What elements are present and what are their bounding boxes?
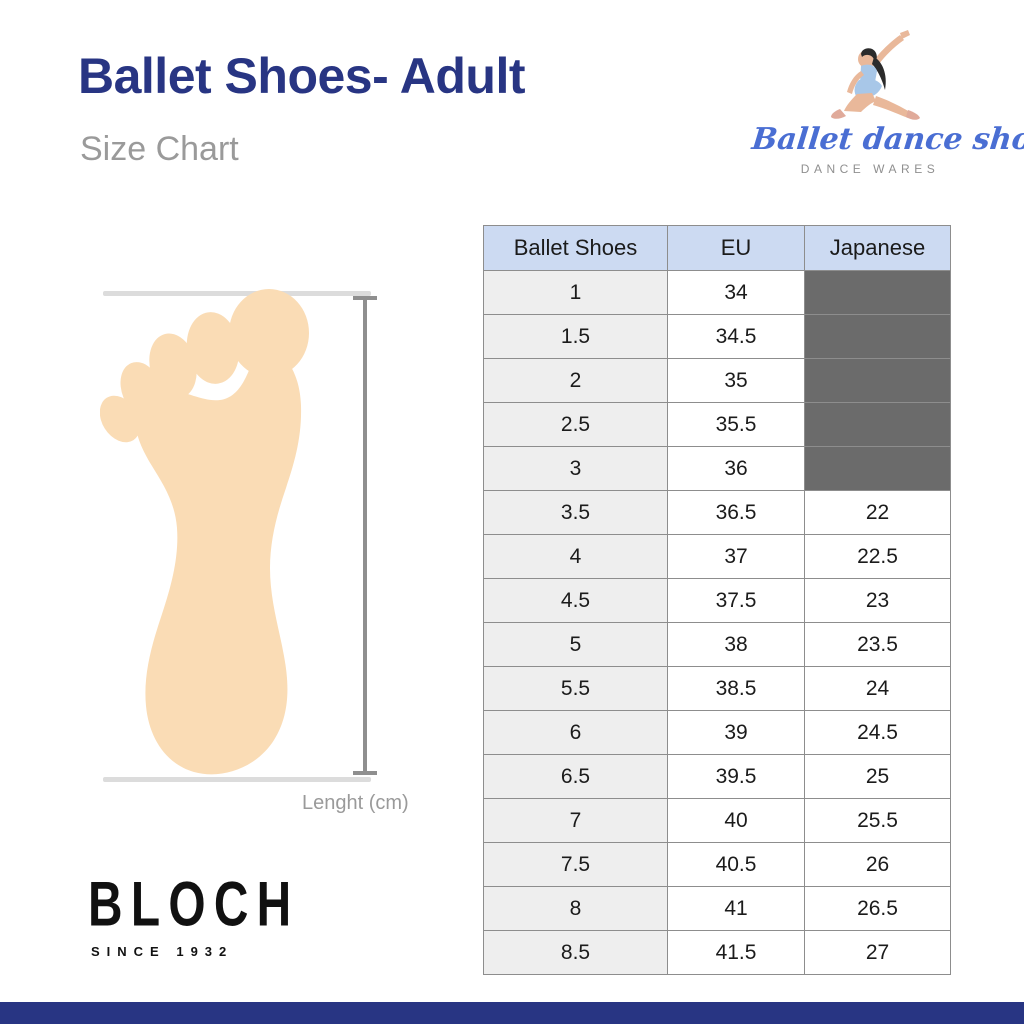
cell-eu: 36 [668,447,805,491]
cell-ballet-shoes: 3 [484,447,668,491]
cell-eu: 40 [668,799,805,843]
cell-ballet-shoes: 1 [484,271,668,315]
cell-japanese: 25.5 [805,799,951,843]
cell-japanese: 26.5 [805,887,951,931]
table-row: 134 [484,271,951,315]
cell-eu: 35 [668,359,805,403]
table-row: 8.541.527 [484,931,951,975]
size-chart-table-container: Ballet Shoes EU Japanese 1341.534.52352.… [483,225,951,975]
cell-eu: 36.5 [668,491,805,535]
cell-eu: 41.5 [668,931,805,975]
table-row: 63924.5 [484,711,951,755]
table-row: 6.539.525 [484,755,951,799]
table-body: 1341.534.52352.535.53363.536.52243722.54… [484,271,951,975]
foot-measurement-diagram: Lenght (cm) [80,270,440,830]
foot-sole-icon [100,288,350,788]
cell-japanese: 27 [805,931,951,975]
cell-eu: 34.5 [668,315,805,359]
measure-shaft [363,297,367,773]
size-chart-table: Ballet Shoes EU Japanese 1341.534.52352.… [483,225,951,975]
cell-ballet-shoes: 4 [484,535,668,579]
column-header-eu: EU [668,226,805,271]
page-title: Ballet Shoes- Adult [78,47,525,105]
table-row: 336 [484,447,951,491]
logo-script-text: Ballet dance shop [750,122,990,157]
cell-eu: 35.5 [668,403,805,447]
cell-ballet-shoes: 5 [484,623,668,667]
table-header: Ballet Shoes EU Japanese [484,226,951,271]
page-subtitle: Size Chart [80,130,239,169]
cell-ballet-shoes: 8 [484,887,668,931]
table-row: 1.534.5 [484,315,951,359]
cell-eu: 40.5 [668,843,805,887]
cell-ballet-shoes: 6 [484,711,668,755]
table-row: 5.538.524 [484,667,951,711]
cell-japanese-unavailable [805,271,951,315]
cell-eu: 41 [668,887,805,931]
cell-ballet-shoes: 7 [484,799,668,843]
bloch-brand-logo: BLOCH SINCE 1932 [88,868,308,958]
cell-japanese-unavailable [805,315,951,359]
cell-eu: 37.5 [668,579,805,623]
cell-japanese: 24.5 [805,711,951,755]
cell-ballet-shoes: 8.5 [484,931,668,975]
table-row: 43722.5 [484,535,951,579]
table-row: 3.536.522 [484,491,951,535]
table-row: 235 [484,359,951,403]
length-label: Lenght (cm) [302,792,409,815]
bloch-since-text: SINCE 1932 [91,944,233,959]
cell-japanese-unavailable [805,403,951,447]
cell-ballet-shoes: 5.5 [484,667,668,711]
ballet-dancer-icon [816,30,936,124]
cell-eu: 37 [668,535,805,579]
table-row: 84126.5 [484,887,951,931]
cell-japanese: 25 [805,755,951,799]
table-row: 2.535.5 [484,403,951,447]
page-header: Ballet Shoes- Adult Size Chart [0,0,1024,210]
logo-tagline: DANCE WARES [752,162,988,176]
cell-ballet-shoes: 2.5 [484,403,668,447]
cell-japanese: 24 [805,667,951,711]
cell-eu: 38 [668,623,805,667]
cell-japanese-unavailable [805,359,951,403]
cell-japanese: 26 [805,843,951,887]
bloch-wordmark: BLOCH [88,868,299,941]
cell-eu: 39.5 [668,755,805,799]
table-row: 74025.5 [484,799,951,843]
cell-japanese: 23.5 [805,623,951,667]
length-measure-arrow [350,294,380,776]
table-row: 4.537.523 [484,579,951,623]
cell-japanese-unavailable [805,447,951,491]
cell-eu: 34 [668,271,805,315]
cell-eu: 38.5 [668,667,805,711]
measure-cap-bottom [353,771,377,775]
table-header-row: Ballet Shoes EU Japanese [484,226,951,271]
footer-bar [0,1002,1024,1024]
table-row: 7.540.526 [484,843,951,887]
cell-ballet-shoes: 2 [484,359,668,403]
cell-ballet-shoes: 7.5 [484,843,668,887]
table-row: 53823.5 [484,623,951,667]
column-header-japanese: Japanese [805,226,951,271]
column-header-ballet-shoes: Ballet Shoes [484,226,668,271]
cell-japanese: 22.5 [805,535,951,579]
cell-ballet-shoes: 6.5 [484,755,668,799]
cell-japanese: 23 [805,579,951,623]
cell-ballet-shoes: 1.5 [484,315,668,359]
brand-logo: Ballet dance shop DANCE WARES [752,30,988,180]
cell-eu: 39 [668,711,805,755]
cell-japanese: 22 [805,491,951,535]
cell-ballet-shoes: 4.5 [484,579,668,623]
cell-ballet-shoes: 3.5 [484,491,668,535]
